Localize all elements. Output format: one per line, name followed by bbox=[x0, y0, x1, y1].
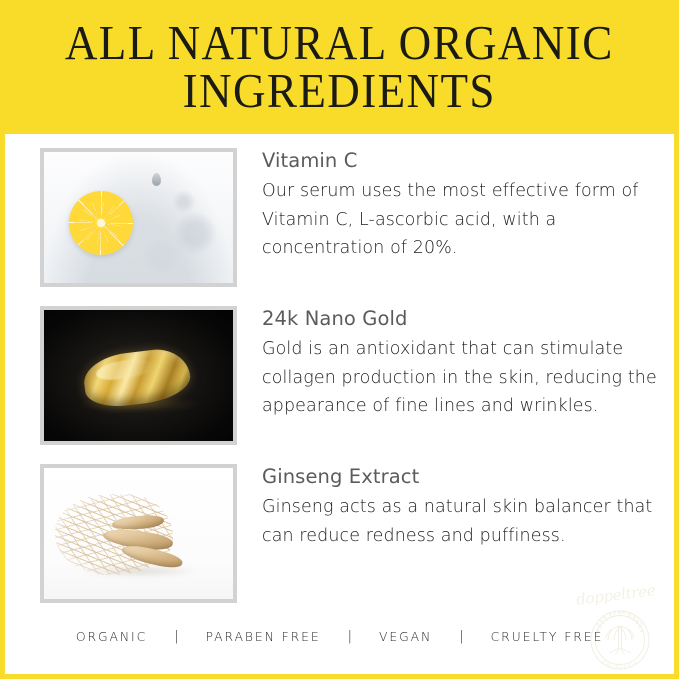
ingredient-image-frame bbox=[40, 464, 237, 603]
ingredient-text: Ginseng Extract Ginseng acts as a natura… bbox=[237, 464, 664, 550]
ingredient-row-ginseng-extract: Ginseng Extract Ginseng acts as a natura… bbox=[40, 464, 664, 603]
ingredient-text: 24k Nano Gold Gold is an antioxidant tha… bbox=[237, 306, 664, 420]
ingredient-image-frame bbox=[40, 306, 237, 445]
page-title: ALL NATURAL ORGANIC INGREDIENTS bbox=[52, 19, 627, 115]
ingredient-title: Vitamin C bbox=[262, 150, 664, 171]
ginseng-roots-photo bbox=[44, 468, 233, 599]
badge-paraben-free: PARABEN FREE bbox=[206, 629, 321, 644]
ingredient-row-vitamin-c: Vitamin C Our serum uses the most effect… bbox=[40, 148, 664, 287]
lemon-slice-icon bbox=[69, 191, 133, 255]
water-droplet-icon bbox=[152, 173, 161, 186]
badge-vegan: VEGAN bbox=[379, 629, 432, 644]
badge-separator: | bbox=[432, 630, 490, 643]
lemon-slice-in-water-photo bbox=[44, 152, 233, 283]
ingredient-description: Our serum uses the most effective form o… bbox=[262, 177, 664, 262]
ingredient-description: Gold is an antioxidant that can stimulat… bbox=[262, 335, 664, 420]
ingredient-row-nano-gold: 24k Nano Gold Gold is an antioxidant tha… bbox=[40, 306, 664, 445]
ingredient-image-frame bbox=[40, 148, 237, 287]
ingredient-list: Vitamin C Our serum uses the most effect… bbox=[5, 134, 674, 599]
header-banner: ALL NATURAL ORGANIC INGREDIENTS bbox=[0, 0, 679, 134]
footer-badges: ORGANIC | PARABEN FREE | VEGAN | CRUELTY… bbox=[5, 599, 674, 674]
ingredient-title: 24k Nano Gold bbox=[262, 308, 664, 329]
ingredients-infographic: ALL NATURAL ORGANIC INGREDIENTS Vitamin … bbox=[0, 0, 679, 679]
gold-nugget-on-black-photo bbox=[44, 310, 233, 441]
ingredient-title: Ginseng Extract bbox=[262, 466, 664, 487]
badge-separator: | bbox=[147, 630, 205, 643]
badge-cruelty-free: CRUELTY FREE bbox=[491, 629, 604, 644]
ingredient-description: Ginseng acts as a natural skin balancer … bbox=[262, 493, 664, 549]
ingredient-text: Vitamin C Our serum uses the most effect… bbox=[237, 148, 664, 262]
badge-separator: | bbox=[321, 630, 379, 643]
badge-organic: ORGANIC bbox=[76, 629, 147, 644]
